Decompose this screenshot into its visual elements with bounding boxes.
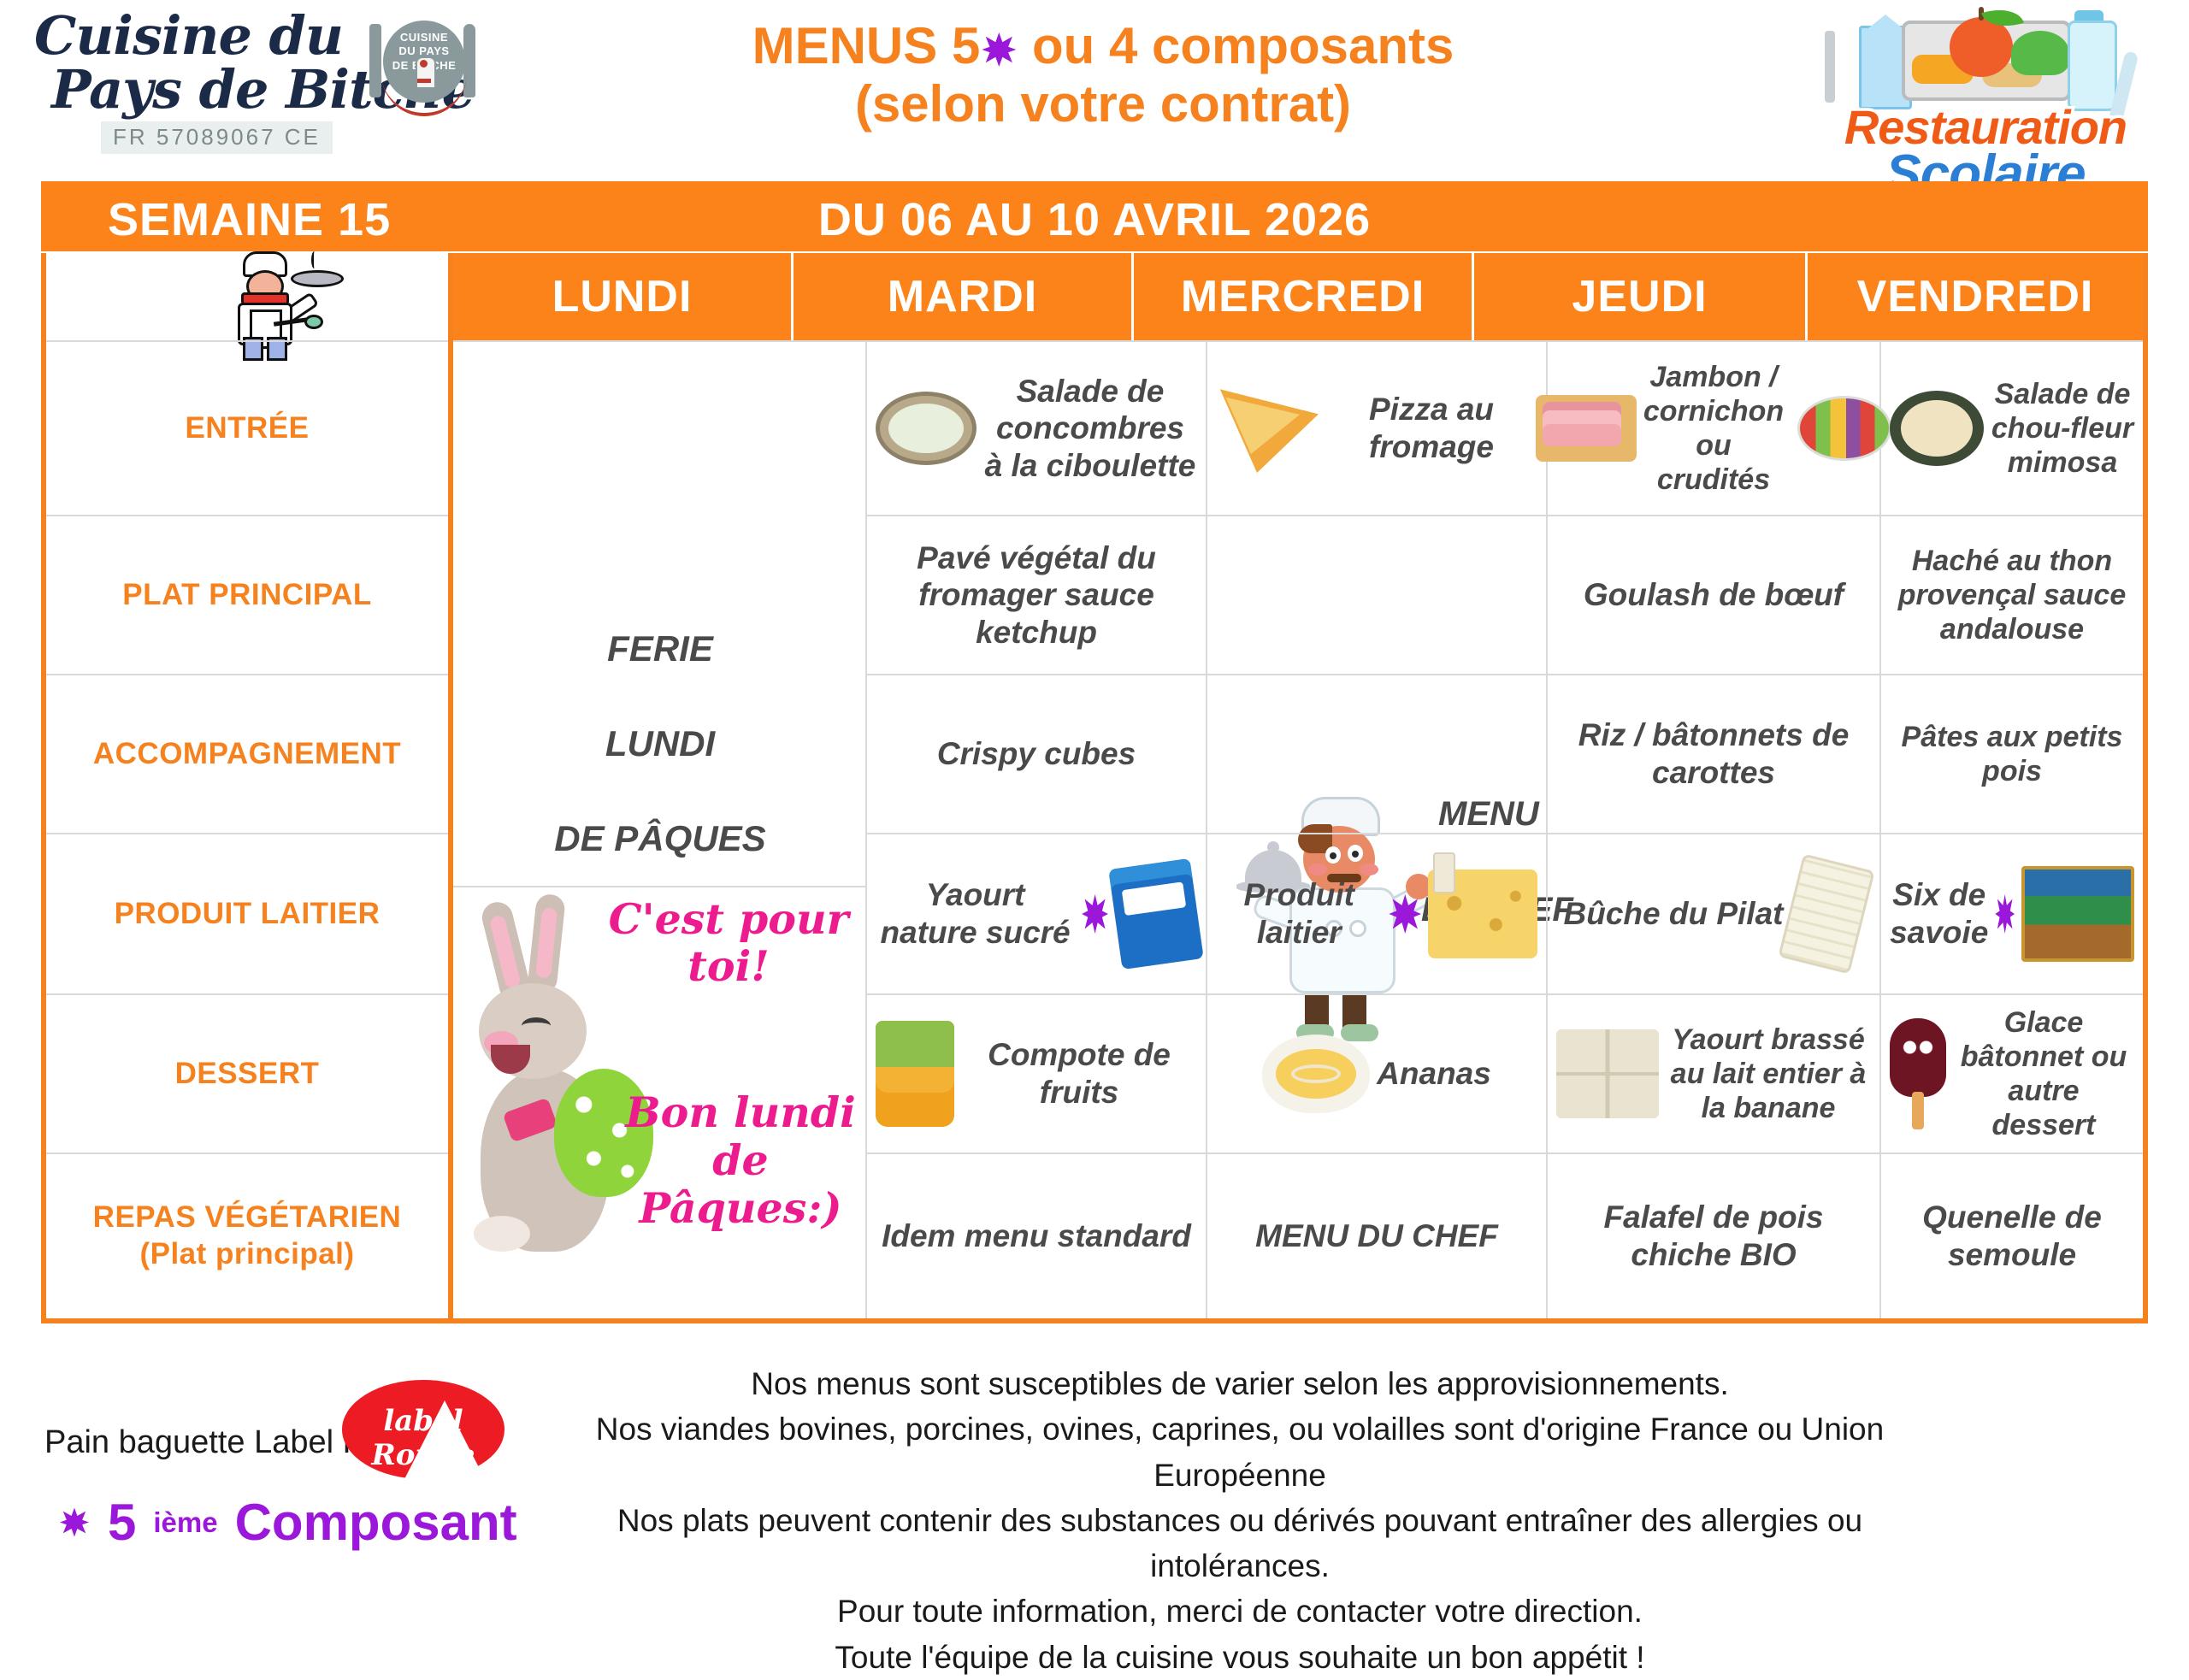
day-header-jeudi: JEUDI — [1474, 253, 1808, 340]
cell-text: Bûche du Pilat — [1564, 895, 1784, 933]
cauliflower-salad-icon — [1890, 391, 1984, 466]
week-date-range: DU 06 AU 10 AVRIL 2026 — [41, 193, 2148, 246]
cell-veg-mardi: Idem menu standard — [867, 1152, 1207, 1318]
cell-text: Compote de fruits — [961, 1036, 1197, 1111]
cell-text: Yaourt brassé au lait entier à la banane — [1666, 1023, 1871, 1125]
easter-message-bottom: Bon lundi de Pâques:) — [624, 1089, 857, 1233]
six-de-savoie-icon — [2021, 866, 2134, 962]
kitchen-logo-fr-code: FR 57089067 CE — [101, 121, 333, 154]
cell-text: Falafel de pois chiche BIO — [1556, 1199, 1871, 1273]
cell-text: Pavé végétal du fromager sauce ketchup — [876, 539, 1197, 651]
five-component-star-icon — [1082, 894, 1108, 934]
cell-entree-jeudi: Jambon / cornichon ou crudités — [1548, 340, 1881, 515]
bunny-foot — [474, 1216, 530, 1252]
cell-veg-mercredi: MENU DU CHEF — [1207, 1152, 1548, 1318]
title-before-star: MENUS 5 — [752, 17, 981, 74]
lundi-ferie-text: FERIE LUNDI DE PÂQUES — [453, 602, 867, 886]
cell-plat-jeudi: Goulash de bœuf — [1548, 515, 1881, 674]
row-label-accompagnement: ACCOMPAGNEMENT — [41, 674, 453, 833]
five-component-legend: 5ième Composant — [58, 1493, 517, 1552]
cell-text: MENU DU CHEF — [1255, 1217, 1498, 1255]
cell-text: Crispy cubes — [937, 735, 1136, 773]
cell-entree-vendredi: Salade de chou-fleur mimosa — [1881, 340, 2143, 515]
row-label-dessert: DESSERT — [41, 993, 453, 1152]
pays-de-bitche-badge-icon: CUISINE DU PAYS DE BITCHE — [357, 15, 486, 114]
day-header-lundi: LUNDI — [453, 253, 794, 340]
logo-water-bottle-icon — [2068, 21, 2117, 111]
cell-plat-vendredi: Haché au thon provençal sauce andalouse — [1881, 515, 2143, 674]
cell-entree-mardi: Salade de concombres à la ciboulette — [867, 340, 1207, 515]
pineapple-icon — [1262, 1035, 1370, 1113]
logo-broccoli-icon — [2011, 31, 2069, 75]
cell-text: Produit laitier — [1216, 876, 1382, 951]
badge-line1: CUISINE — [383, 31, 465, 44]
row-label-veg-line1: REPAS VÉGÉTARIEN — [93, 1200, 402, 1236]
cell-veg-vendredi: Quenelle de semoule — [1881, 1152, 2143, 1318]
page-footer: Pain baguette Label Rouge label Rouge 5i… — [0, 1351, 2189, 1607]
cell-text: Salade de chou-fleur mimosa — [1991, 377, 2134, 480]
cell-dessert-jeudi: Yaourt brassé au lait entier à la banane — [1548, 993, 1881, 1152]
fork-icon — [369, 24, 381, 97]
week-bar: SEMAINE 15 DU 06 AU 10 AVRIL 2026 — [41, 181, 2148, 251]
label-rouge-logo: label Rouge — [342, 1375, 504, 1483]
cell-text: Yaourt nature sucré — [876, 876, 1075, 951]
cell-text: Glace bâtonnet ou autre dessert — [1953, 1005, 2134, 1142]
menu-du-chef-line1: MENU — [1438, 795, 1539, 834]
logo-fork-icon — [1825, 31, 1835, 103]
label-rouge-word2: Rouge — [371, 1438, 475, 1472]
label-rouge-text: label Rouge — [342, 1404, 504, 1472]
cheese-assortment-icon — [1428, 869, 1537, 958]
ferie-line3: DE PÂQUES — [554, 818, 765, 859]
legend-word: Composant — [235, 1493, 517, 1552]
day-header-vendredi: VENDREDI — [1808, 253, 2143, 340]
cell-accomp-mardi: Crispy cubes — [867, 674, 1207, 833]
five-component-star-icon — [1995, 894, 2015, 934]
crudites-icon — [1797, 396, 1891, 461]
page-header: Cuisine du Pays de Bitche FR 57089067 CE… — [0, 0, 2189, 175]
cell-accomp-vendredi: Pâtes aux petits pois — [1881, 674, 2143, 833]
footer-note-3: Nos plats peuvent contenir des substance… — [547, 1498, 1932, 1589]
badge-arc-text — [381, 67, 467, 116]
title-line-2: (selon votre contrat) — [650, 75, 1556, 133]
chef-spoon-bowl — [304, 315, 323, 329]
easter-message-top: C'est pour toi! — [600, 896, 857, 990]
cell-entree-mercredi: Pizza au fromage — [1207, 340, 1548, 515]
cell-text: Salade de concombres à la ciboulette — [983, 373, 1197, 485]
compote-cup-icon — [876, 1021, 954, 1127]
cell-text: Pâtes aux petits pois — [1890, 720, 2134, 788]
easter-bunny-block: C'est pour toi! Bon lundi de Pâques:) — [453, 886, 867, 1318]
footer-note-2: Nos viandes bovines, porcines, ovines, c… — [547, 1406, 1932, 1498]
row-label-veg-line2: (Plat principal) — [139, 1236, 354, 1273]
cell-dessert-mercredi: Ananas — [1207, 993, 1548, 1152]
table-border-bottom — [41, 1318, 2148, 1323]
ferie-line1: FERIE — [607, 628, 713, 669]
ice-cream-bar-icon — [1890, 1018, 1946, 1129]
pizza-icon — [1216, 384, 1319, 473]
kitchen-logo: Cuisine du Pays de Bitche FR 57089067 CE… — [34, 9, 479, 145]
page-title: MENUS 5 ou 4 composants (selon votre con… — [650, 17, 1556, 134]
table-border-mid — [448, 253, 453, 1323]
cell-text: Pizza au fromage — [1325, 391, 1537, 465]
five-component-star-icon — [982, 32, 1016, 67]
ham-icon — [1536, 395, 1637, 462]
kitchen-logo-line1: Cuisine du — [34, 4, 343, 67]
cell-text: Haché au thon provençal sauce andalouse — [1890, 544, 2134, 646]
steam-icon — [311, 251, 317, 268]
cell-text: Quenelle de semoule — [1890, 1199, 2134, 1273]
day-header-mercredi: MERCREDI — [1134, 253, 1474, 340]
legend-number: 5 — [108, 1493, 136, 1552]
yogurt-pot-icon — [1108, 858, 1203, 970]
row-label-plat-principal: PLAT PRINCIPAL — [41, 515, 453, 674]
footer-notes: Nos menus sont susceptibles de varier se… — [547, 1361, 1932, 1680]
table-border-right — [2143, 253, 2148, 1323]
table-corner-cell — [41, 253, 453, 340]
table-border-left — [41, 253, 46, 1323]
cell-dessert-vendredi: Glace bâtonnet ou autre dessert — [1881, 993, 2143, 1152]
knife-icon — [463, 24, 475, 97]
cell-laitier-mardi: Yaourt nature sucré — [867, 833, 1207, 993]
title-line-1: MENUS 5 ou 4 composants — [650, 17, 1556, 75]
cell-text: Jambon / cornichon ou crudités — [1643, 360, 1784, 497]
cell-text: Goulash de bœuf — [1584, 576, 1844, 614]
title-after-star: ou 4 composants — [1018, 17, 1454, 74]
legend-ordinal: ième — [153, 1506, 217, 1539]
cell-plat-mardi: Pavé végétal du fromager sauce ketchup — [867, 515, 1207, 674]
cell-text: Ananas — [1377, 1055, 1491, 1093]
cell-text: Six de savoie — [1890, 876, 1988, 951]
cell-dessert-mardi: Compote de fruits — [867, 993, 1207, 1152]
day-header-mardi: MARDI — [794, 253, 1134, 340]
label-rouge-word1: label — [383, 1404, 463, 1438]
five-component-star-icon — [60, 1508, 89, 1537]
cell-laitier-vendredi: Six de savoie — [1881, 833, 2143, 993]
row-label-entree: ENTRÉE — [41, 340, 453, 515]
bunny-eye — [522, 1017, 551, 1035]
yogurt-pack-icon — [1556, 1029, 1659, 1118]
chef-waiter-icon — [202, 251, 339, 345]
cell-text: Idem menu standard — [882, 1217, 1191, 1255]
cucumber-salad-icon — [876, 392, 976, 465]
buche-cheese-icon — [1779, 853, 1875, 974]
footer-note-5: Toute l'équipe de la cuisine vous souhai… — [547, 1635, 1932, 1680]
cell-plat-mercredi — [1207, 515, 1548, 674]
cell-veg-jeudi: Falafel de pois chiche BIO — [1548, 1152, 1881, 1318]
cell-laitier-jeudi: Bûche du Pilat — [1548, 833, 1881, 993]
menu-table: LUNDI MARDI MERCREDI JEUDI VENDREDI ENTR… — [41, 253, 2148, 1323]
ferie-line2: LUNDI — [605, 723, 715, 764]
row-label-produit-laitier: PRODUIT LAITIER — [41, 833, 453, 993]
footer-note-1: Nos menus sont susceptibles de varier se… — [547, 1361, 1932, 1406]
serving-plate-icon — [291, 270, 344, 287]
five-component-star-icon — [1389, 894, 1421, 934]
bunny-ear-right — [527, 893, 566, 995]
cell-laitier-mercredi: Produit laitier — [1207, 833, 1548, 993]
row-label-repas-vegetarien: REPAS VÉGÉTARIEN (Plat principal) — [41, 1152, 453, 1318]
footer-note-4: Pour toute information, merci de contact… — [547, 1589, 1932, 1634]
logo-apple-icon — [1950, 17, 2013, 77]
